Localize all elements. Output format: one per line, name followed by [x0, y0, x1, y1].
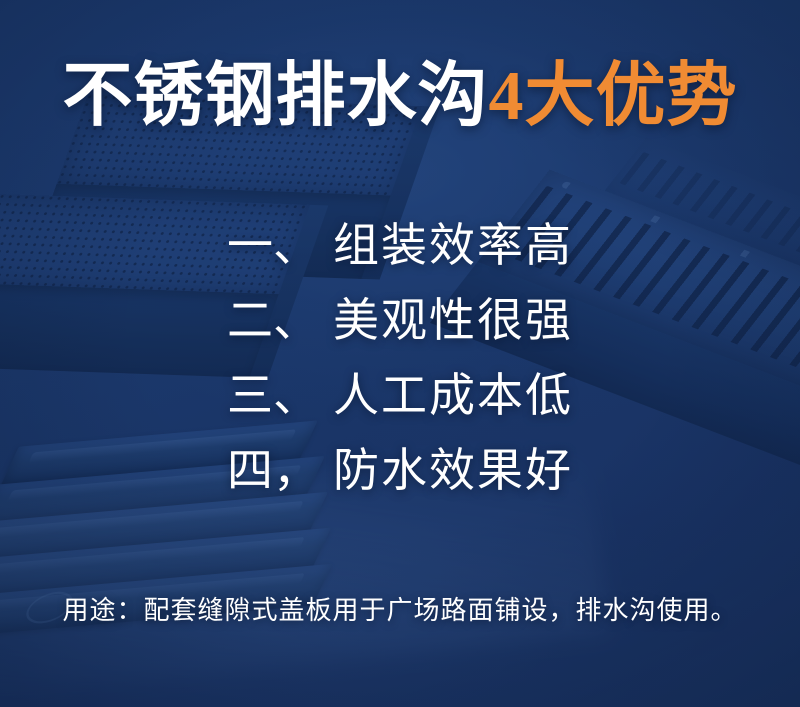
list-item: 四，防水效果好 — [0, 433, 800, 508]
list-item-number: 一、 — [227, 219, 319, 271]
list-item: 三、人工成本低 — [0, 358, 800, 433]
page-title: 不锈钢排水沟4大优势 — [0, 62, 800, 132]
list-item-label: 防水效果好 — [333, 444, 573, 496]
title-main-text: 不锈钢排水沟 — [63, 58, 489, 135]
usage-note: 用途：配套缝隙式盖板用于广场路面铺设，排水沟使用。 — [0, 590, 800, 627]
list-item-number: 二、 — [227, 294, 319, 346]
title-accent-text: 4大优势 — [489, 58, 738, 135]
list-item: 一、组装效率高 — [0, 208, 800, 283]
list-item-label: 美观性很强 — [333, 294, 573, 346]
list-item-label: 组装效率高 — [333, 219, 573, 271]
promo-poster: 不锈钢排水沟4大优势 一、组装效率高 二、美观性很强 三、人工成本低 四，防水效… — [0, 0, 800, 707]
list-item-label: 人工成本低 — [333, 369, 573, 421]
list-item: 二、美观性很强 — [0, 283, 800, 358]
advantages-list: 一、组装效率高 二、美观性很强 三、人工成本低 四，防水效果好 — [0, 208, 800, 508]
list-item-number: 四， — [227, 444, 319, 496]
list-item-number: 三、 — [227, 369, 319, 421]
poster-content: 不锈钢排水沟4大优势 一、组装效率高 二、美观性很强 三、人工成本低 四，防水效… — [0, 0, 800, 707]
